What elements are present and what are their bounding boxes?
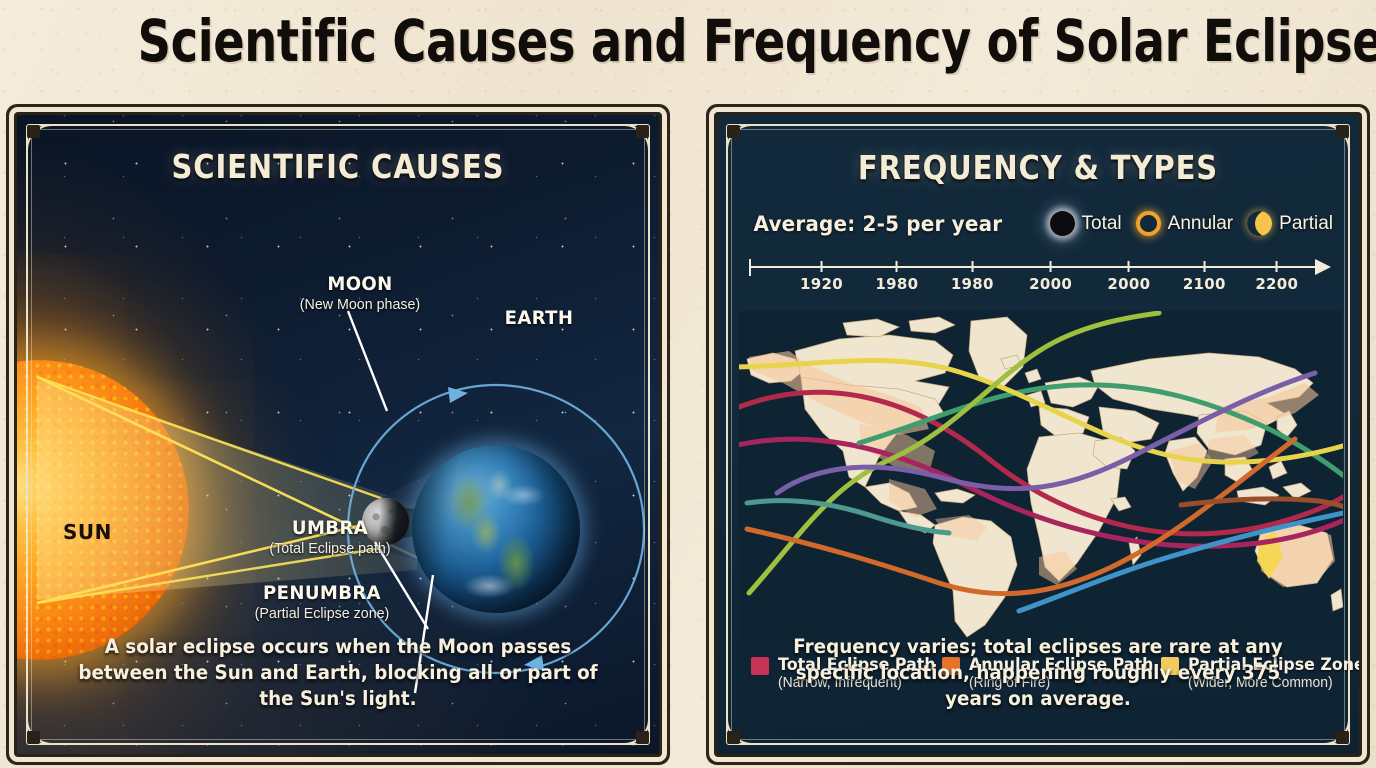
penumbra-annotation-sub: (Partial Eclipse zone) [213,605,432,622]
timeline-tick-1: 1980 [875,255,918,293]
left-panel-caption: A solar eclipse occurs when the Moon pas… [66,634,609,712]
world-eclipse-map [739,311,1343,641]
timeline-tick-3: 2000 [1029,255,1072,293]
frequency-types-panel: FREQUENCY & TYPES Average: 2-5 per year … [714,112,1362,757]
timeline-tick-label: 2200 [1255,275,1298,293]
world-map-svg [739,311,1343,641]
moon-annotation-sub: (New Moon phase) [265,296,455,313]
umbra-annotation-sub: (Total Eclipse path) [230,540,430,557]
timeline-tick-6: 2200 [1255,255,1298,293]
earth-annotation: EARTH [479,307,599,329]
timeline-tick-label: 2000 [1029,275,1072,293]
earth-annotation-title: EARTH [482,307,596,329]
timeline-tick-mark [896,261,898,272]
timeline-tick-4: 2000 [1107,255,1150,293]
timeline-tick-label: 2000 [1107,275,1150,293]
page-title: Scientific Causes and Frequency of Solar… [138,12,1239,70]
moon-annotation: MOON (New Moon phase) [260,273,460,313]
timeline-tick-mark [820,261,822,272]
timeline-tick-mark [1203,261,1205,272]
legend-label-total: Total [1082,213,1122,235]
penumbra-annotation: PENUMBRA (Partial Eclipse zone) [207,582,437,622]
average-frequency-text: Average: 2-5 per year [754,212,1003,236]
scientific-causes-panel: SUN SCIENTIFIC CAUSES MOON (New Moon pha… [14,112,662,757]
timeline-tick-group: 1920198019802000200021002200 [749,255,1329,301]
penumbra-annotation-title: PENUMBRA [213,582,432,604]
partial-eclipse-icon [1247,211,1272,236]
legend-label-annular: Annular [1168,213,1234,235]
umbra-annotation-title: UMBRA [230,517,430,539]
timeline-tick-mark [971,261,973,272]
legend-item-total: Total [1050,211,1122,236]
panel-heading-right: FREQUENCY & TYPES [756,148,1321,187]
eclipse-type-legend: Total Annular Partial [1050,211,1334,236]
legend-item-partial: Partial [1247,211,1333,236]
timeline-tick-mark [1050,261,1052,272]
timeline-tick-2: 1980 [951,255,994,293]
timeline-tick-label: 2100 [1183,275,1226,293]
timeline-tick-label: 1920 [800,275,843,293]
timeline-tick-label: 1980 [951,275,994,293]
timeline-tick-0: 1920 [800,255,843,293]
annular-eclipse-icon [1136,211,1161,236]
timeline-tick-label: 1980 [875,275,918,293]
legend-label-partial: Partial [1279,213,1333,235]
frequency-summary-row: Average: 2-5 per year Total Annular Part… [747,211,1333,236]
total-eclipse-icon [1050,211,1075,236]
right-panel-caption: Frequency varies; total eclipses are rar… [766,634,1309,712]
umbra-annotation: UMBRA (Total Eclipse path) [225,517,435,557]
panel-heading-left: SCIENTIFIC CAUSES [56,147,621,186]
eclipse-timeline-axis: 1920198019802000200021002200 [749,255,1329,301]
legend-item-annular: Annular [1136,211,1234,236]
timeline-tick-mark [1128,261,1130,272]
moon-annotation-title: MOON [265,273,455,295]
timeline-tick-mark [1276,261,1278,272]
timeline-tick-5: 2100 [1183,255,1226,293]
